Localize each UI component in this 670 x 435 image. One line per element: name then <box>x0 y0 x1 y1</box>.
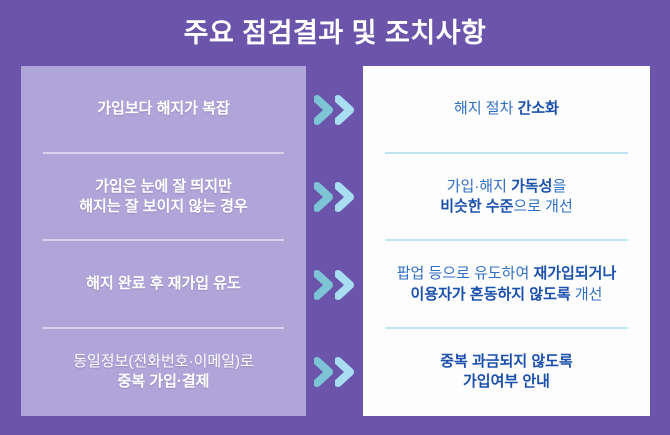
action-row-4-segment: 중복 과금되지 않도록 <box>440 353 573 370</box>
page-title: 주요 점검결과 및 조치사항 <box>184 11 487 50</box>
arrow-column <box>306 66 363 416</box>
double-chevron-right-icon <box>306 66 363 154</box>
finding-row-3-text: 해지 완료 후 재가입 유도 <box>86 274 241 295</box>
chevron-right-icon <box>314 357 334 387</box>
action-row-2-segment: 가입·해지 <box>447 178 511 195</box>
action-row-1-text: 해지 절차 간소화 <box>454 99 559 120</box>
action-row-3: 팝업 등으로 유도하여 재가입되거나이용자가 혼동하지 않도록 개선 <box>363 241 650 329</box>
action-row-1: 해지 절차 간소화 <box>363 66 650 154</box>
actions-panel: 해지 절차 간소화가입·해지 가독성을비슷한 수준으로 개선팝업 등으로 유도하… <box>363 66 650 416</box>
finding-row-1-segment: 가입보다 해지가 복잡 <box>97 100 230 117</box>
finding-row-4-text: 동일정보(전화번호·이메일)로중복 가입·결제 <box>73 352 254 393</box>
action-row-2-segment: 가독성 <box>511 178 552 195</box>
action-row-1-segment: 해지 절차 <box>454 100 518 117</box>
chevron-right-icon <box>314 182 334 212</box>
action-row-2-segment: 으로 개선 <box>513 198 572 215</box>
chevron-right-icon <box>314 95 334 125</box>
action-row-2: 가입·해지 가독성을비슷한 수준으로 개선 <box>363 154 650 242</box>
finding-row-1-text: 가입보다 해지가 복잡 <box>97 99 230 120</box>
double-chevron-right-icon <box>306 241 363 329</box>
finding-row-1: 가입보다 해지가 복잡 <box>21 66 306 154</box>
finding-row-2: 가입은 눈에 잘 띄지만해지는 잘 보이지 않는 경우 <box>21 154 306 242</box>
finding-row-4-segment: 동일정보(전화번호·이메일)로 <box>73 353 254 370</box>
chevron-right-icon <box>314 270 334 300</box>
finding-row-2-segment: 해지는 잘 보이지 않는 경우 <box>79 198 247 215</box>
action-row-2-segment: 비슷한 수준 <box>440 198 513 215</box>
action-row-4-segment: 가입여부 안내 <box>463 373 550 390</box>
action-row-2-segment: 을 <box>552 178 566 195</box>
finding-row-2-text: 가입은 눈에 잘 띄지만해지는 잘 보이지 않는 경우 <box>79 177 247 218</box>
action-row-4: 중복 과금되지 않도록가입여부 안내 <box>363 329 650 417</box>
double-chevron-right-icon <box>306 154 363 242</box>
action-row-3-segment: 이용자가 혼동하지 않도록 <box>411 286 571 303</box>
chevron-right-icon <box>335 270 355 300</box>
comparison-board: 가입보다 해지가 복잡가입은 눈에 잘 띄지만해지는 잘 보이지 않는 경우해지… <box>0 60 670 435</box>
action-row-2-text: 가입·해지 가독성을비슷한 수준으로 개선 <box>440 177 573 218</box>
double-chevron-right-icon <box>306 329 363 417</box>
action-row-3-segment: 팝업 등으로 유도하여 <box>397 265 534 282</box>
chevron-right-icon <box>335 95 355 125</box>
chevron-right-icon <box>335 357 355 387</box>
finding-row-3-segment: 해지 완료 후 재가입 유도 <box>86 275 241 292</box>
page-header: 주요 점검결과 및 조치사항 <box>0 0 670 60</box>
action-row-4-text: 중복 과금되지 않도록가입여부 안내 <box>440 352 573 393</box>
action-row-1-segment: 간소화 <box>518 100 559 117</box>
chevron-right-icon <box>335 182 355 212</box>
finding-row-2-segment: 가입은 눈에 잘 띄지만 <box>95 178 232 195</box>
finding-row-4-segment: 중복 가입·결제 <box>118 373 210 390</box>
finding-row-3: 해지 완료 후 재가입 유도 <box>21 241 306 329</box>
action-row-3-text: 팝업 등으로 유도하여 재가입되거나이용자가 혼동하지 않도록 개선 <box>397 264 617 305</box>
finding-row-4: 동일정보(전화번호·이메일)로중복 가입·결제 <box>21 329 306 417</box>
action-row-3-segment: 재가입되거나 <box>533 265 616 282</box>
action-row-3-segment: 개선 <box>571 286 603 303</box>
findings-panel: 가입보다 해지가 복잡가입은 눈에 잘 띄지만해지는 잘 보이지 않는 경우해지… <box>21 66 306 416</box>
